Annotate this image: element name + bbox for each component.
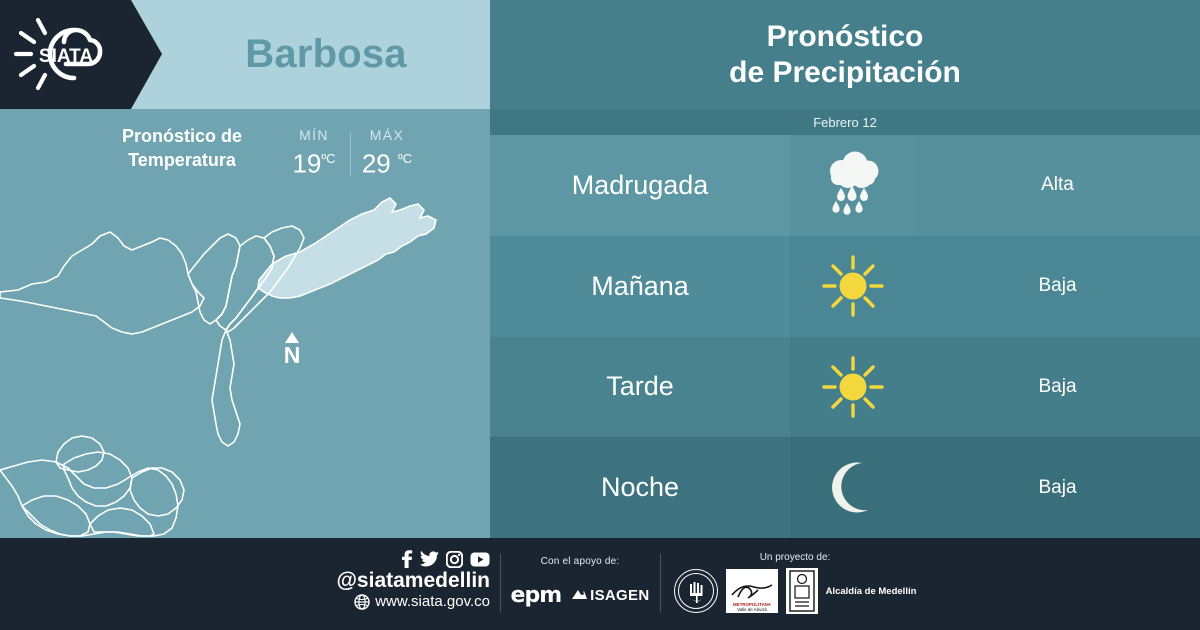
sun-icon [820,253,886,319]
map-highlight-barbosa [258,198,436,298]
probability-label: Baja [1038,376,1076,398]
sun-cloud-icon: SIATA [12,12,132,96]
facebook-icon[interactable] [400,550,413,568]
period-label: Mañana [591,271,689,302]
precipitation-title-line1: Pronóstico [767,19,924,55]
period-label: Madrugada [572,170,709,201]
alcaldia-crest-icon [786,568,818,614]
support-block: Con el apoyo de: epm ISAGEN [505,556,655,608]
alcaldia-crest-logo[interactable] [786,568,818,614]
probability-label: Alta [1041,174,1074,196]
weather-icon-cell [790,135,915,236]
north-arrow: N [272,332,312,367]
weather-icon-cell [790,437,915,538]
isagen-logo[interactable]: ISAGEN [571,587,649,604]
temperature-panel: SIATA Barbosa Pronóstico de Temperatura … [0,0,490,538]
instagram-icon[interactable] [446,551,463,568]
period-label: Tarde [606,371,674,402]
precipitation-title-line2: de Precipitación [729,55,961,91]
probability-cell: Baja [915,236,1200,337]
precipitation-panel: Pronóstico de Precipitación Febrero 12 M… [490,0,1200,538]
social-handle[interactable]: @siatamedellin [336,569,490,593]
north-arrow-label: N [272,343,312,367]
map-svg [0,180,490,538]
temperature-title-line2: Temperatura [88,148,276,172]
table-row[interactable]: Madrugada [490,135,1200,236]
period-label: Noche [601,472,679,503]
temperature-min: MÍN 19ºC [280,126,348,179]
temperature-divider [350,132,351,176]
table-row[interactable]: Mañana [490,236,1200,337]
temperature-values: MÍN 19ºC MÁX 29 ºC [280,126,421,179]
probability-label: Baja [1038,477,1076,499]
probability-cell: Baja [915,337,1200,438]
weather-icon-cell [790,236,915,337]
seal-emblem-icon [677,572,717,612]
twitter-icon[interactable] [420,550,439,568]
city-name: Barbosa [162,0,490,109]
isagen-label: ISAGEN [590,587,649,604]
footer-divider-2 [660,554,661,612]
period-cell: Noche [490,437,790,538]
temperature-min-label: MÍN [280,126,348,144]
project-block: Un proyecto de: [665,552,925,614]
temperature-min-unit: ºC [321,151,335,166]
weather-icon-cell [790,337,915,438]
alcaldia-label: Alcaldía de Medellín [826,586,917,597]
probability-cell: Baja [915,437,1200,538]
period-cell: Mañana [490,236,790,337]
temperature-summary: Pronóstico de Temperatura MÍN 19ºC MÁX 2… [88,124,428,180]
period-cell: Madrugada [490,135,790,236]
project-caption: Un proyecto de: [665,552,925,563]
probability-label: Baja [1038,275,1076,297]
footer: @siatamedellin www.siata.gov.co Con el a… [0,538,1200,630]
area-line2: Valle de Aburrá [737,607,767,612]
youtube-icon[interactable] [470,552,490,567]
moon-icon [822,457,884,519]
isagen-mark-icon [571,588,588,603]
temperature-max-value: 29 ºC [353,144,421,179]
siata-logo-text: SIATA [39,46,93,67]
temperature-max-label: MÁX [353,126,421,144]
temperature-min-value: 19ºC [280,144,348,179]
raindrops [832,186,868,215]
universidad-de-medellin-seal[interactable] [674,569,718,613]
table-row[interactable]: Noche Baja [490,437,1200,538]
epm-logo[interactable]: epm [511,583,562,608]
precipitation-header: Pronóstico de Precipitación [490,0,1200,109]
area-metropolitana-logo[interactable]: METROPOLITANA Valle de Aburrá [726,569,778,613]
temperature-max: MÁX 29 ºC [353,126,421,179]
temperature-max-unit: ºC [398,151,412,166]
social-block: @siatamedellin www.siata.gov.co [330,550,490,611]
siata-logo-block[interactable]: SIATA [0,0,162,109]
temperature-title: Pronóstico de Temperatura [88,124,276,172]
temperature-title-line1: Pronóstico de [88,124,276,148]
infographic-canvas: SIATA Barbosa Pronóstico de Temperatura … [0,0,1200,630]
website-url[interactable]: www.siata.gov.co [375,593,490,611]
support-caption: Con el apoyo de: [505,556,655,567]
globe-icon [354,594,370,610]
period-cell: Tarde [490,337,790,438]
project-logos: METROPOLITANA Valle de Aburrá Alcaldía d… [665,568,925,614]
website-row[interactable]: www.siata.gov.co [354,593,490,611]
social-icons [400,550,490,568]
city-name-text: Barbosa [245,32,406,77]
sun-icon [820,354,886,420]
forecast-rows: Madrugada [490,135,1200,538]
forecast-date: Febrero 12 [490,109,1200,135]
forecast-date-text: Febrero 12 [813,115,877,130]
table-row[interactable]: Tarde [490,337,1200,438]
probability-cell: Alta [915,135,1200,236]
municipality-map[interactable]: N [0,180,490,538]
map-boundaries [0,226,304,536]
support-logos: epm ISAGEN [505,583,655,608]
area-mark-icon: METROPOLITANA Valle de Aburrá [726,569,778,613]
footer-divider-1 [500,554,501,612]
rain-cloud-icon [816,150,890,220]
